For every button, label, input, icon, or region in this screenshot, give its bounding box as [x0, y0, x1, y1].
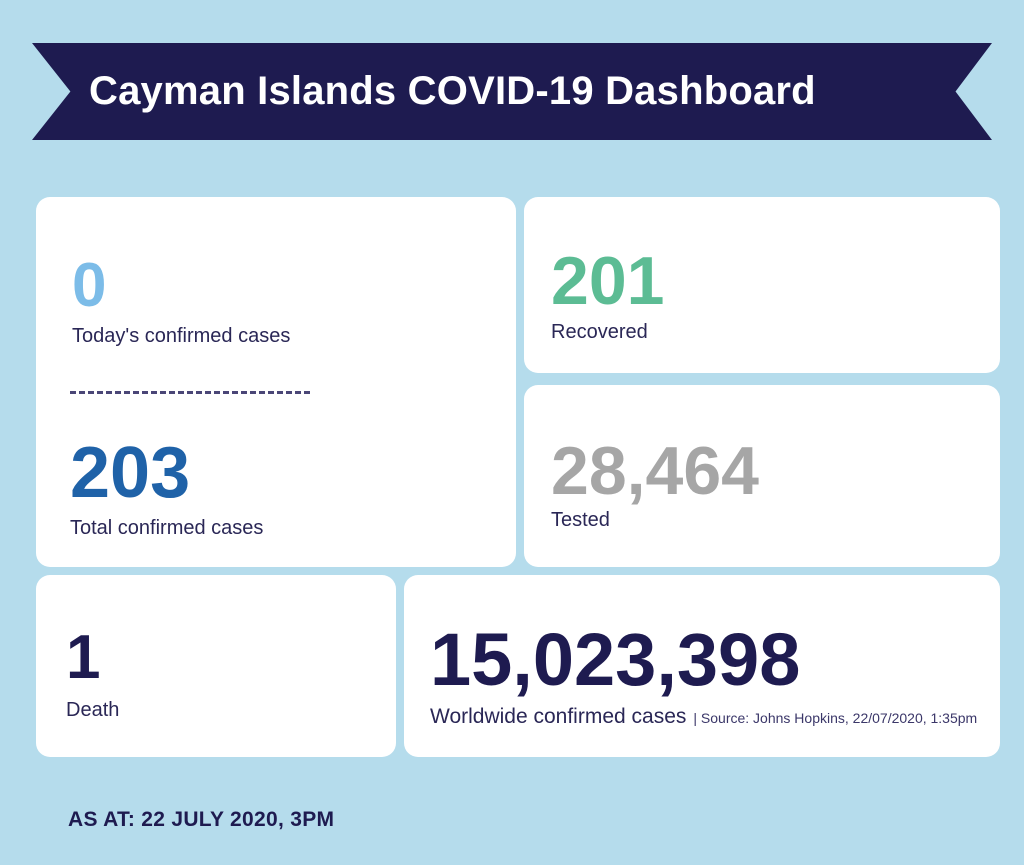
- stat-value-total-confirmed: 203: [70, 437, 263, 509]
- card-death: 1 Death: [36, 575, 396, 757]
- stat-value-worldwide-confirmed: 15,023,398: [430, 623, 977, 697]
- stat-label-worldwide-confirmed: Worldwide confirmed cases: [430, 705, 686, 728]
- stat-value-death: 1: [66, 627, 119, 689]
- stat-today-confirmed: 0 Today's confirmed cases: [72, 255, 290, 347]
- page-title: Cayman Islands COVID-19 Dashboard: [89, 69, 816, 114]
- card-tested: 28,464 Tested: [524, 385, 1000, 567]
- stat-recovered: 201 Recovered: [551, 247, 664, 343]
- as-at-timestamp: AS AT: 22 JULY 2020, 3PM: [68, 808, 334, 832]
- stat-worldwide-confirmed: 15,023,398 Worldwide confirmed cases | S…: [430, 623, 977, 728]
- stat-label-total-confirmed: Total confirmed cases: [70, 517, 263, 539]
- stat-label-tested: Tested: [551, 509, 759, 531]
- stat-value-tested: 28,464: [551, 437, 759, 505]
- stat-value-today-confirmed: 0: [72, 255, 290, 317]
- stat-value-recovered: 201: [551, 247, 664, 315]
- card-divider: [70, 391, 310, 394]
- header-banner-shape: Cayman Islands COVID-19 Dashboard: [32, 43, 992, 140]
- stat-label-recovered: Recovered: [551, 321, 664, 343]
- stat-label-death: Death: [66, 699, 119, 721]
- source-attribution: | Source: Johns Hopkins, 22/07/2020, 1:3…: [693, 710, 977, 726]
- stat-death: 1 Death: [66, 627, 119, 721]
- stat-total-confirmed: 203 Total confirmed cases: [70, 437, 263, 539]
- card-recovered: 201 Recovered: [524, 197, 1000, 373]
- card-worldwide-confirmed: 15,023,398 Worldwide confirmed cases | S…: [404, 575, 1000, 757]
- dashboard-header: Cayman Islands COVID-19 Dashboard: [32, 43, 992, 140]
- worldwide-label-row: Worldwide confirmed cases | Source: John…: [430, 705, 977, 728]
- stat-label-today-confirmed: Today's confirmed cases: [72, 325, 290, 347]
- stat-tested: 28,464 Tested: [551, 437, 759, 531]
- card-confirmed-cases: 0 Today's confirmed cases 203 Total conf…: [36, 197, 516, 567]
